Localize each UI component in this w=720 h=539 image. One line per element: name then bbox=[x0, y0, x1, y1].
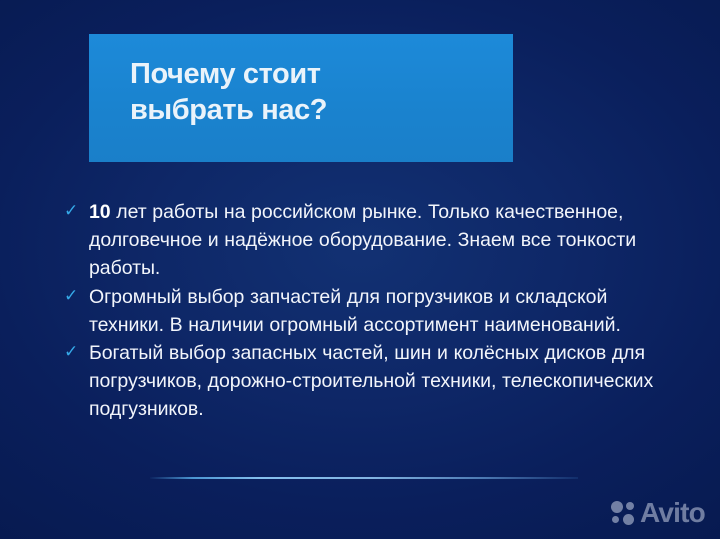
list-item-text: Огромный выбор запчастей для погрузчиков… bbox=[89, 283, 662, 339]
checkmark-icon: ✓ bbox=[64, 286, 84, 306]
avito-wordmark: Avito bbox=[640, 497, 705, 529]
list-item-lead: 10 bbox=[89, 201, 111, 223]
list-item-text: Богатый выбор запасных частей, шин и кол… bbox=[89, 339, 662, 424]
benefits-list: ✓ 10 лет работы на российском рынке. Тол… bbox=[62, 198, 662, 424]
list-item-body: Огромный выбор запчастей для погрузчиков… bbox=[89, 286, 621, 336]
list-item: ✓ Богатый выбор запасных частей, шин и к… bbox=[62, 339, 662, 424]
list-item-text: 10 лет работы на российском рынке. Тольк… bbox=[89, 198, 662, 283]
title-card: Почему стоит выбрать нас? bbox=[89, 34, 513, 162]
list-item-body: Богатый выбор запасных частей, шин и кол… bbox=[89, 342, 653, 420]
checkmark-icon: ✓ bbox=[64, 201, 84, 221]
checkmark-icon: ✓ bbox=[64, 342, 84, 362]
list-item-body: лет работы на российском рынке. Только к… bbox=[89, 201, 636, 279]
avito-watermark: Avito bbox=[611, 497, 711, 531]
presentation-slide: Почему стоит выбрать нас? ✓ 10 лет работ… bbox=[0, 0, 720, 539]
list-item: ✓ Огромный выбор запчастей для погрузчик… bbox=[62, 283, 662, 339]
list-item: ✓ 10 лет работы на российском рынке. Тол… bbox=[62, 198, 662, 283]
divider bbox=[150, 477, 578, 479]
page-title: Почему стоит выбрать нас? bbox=[130, 56, 499, 128]
avito-dots-icon bbox=[611, 500, 641, 526]
